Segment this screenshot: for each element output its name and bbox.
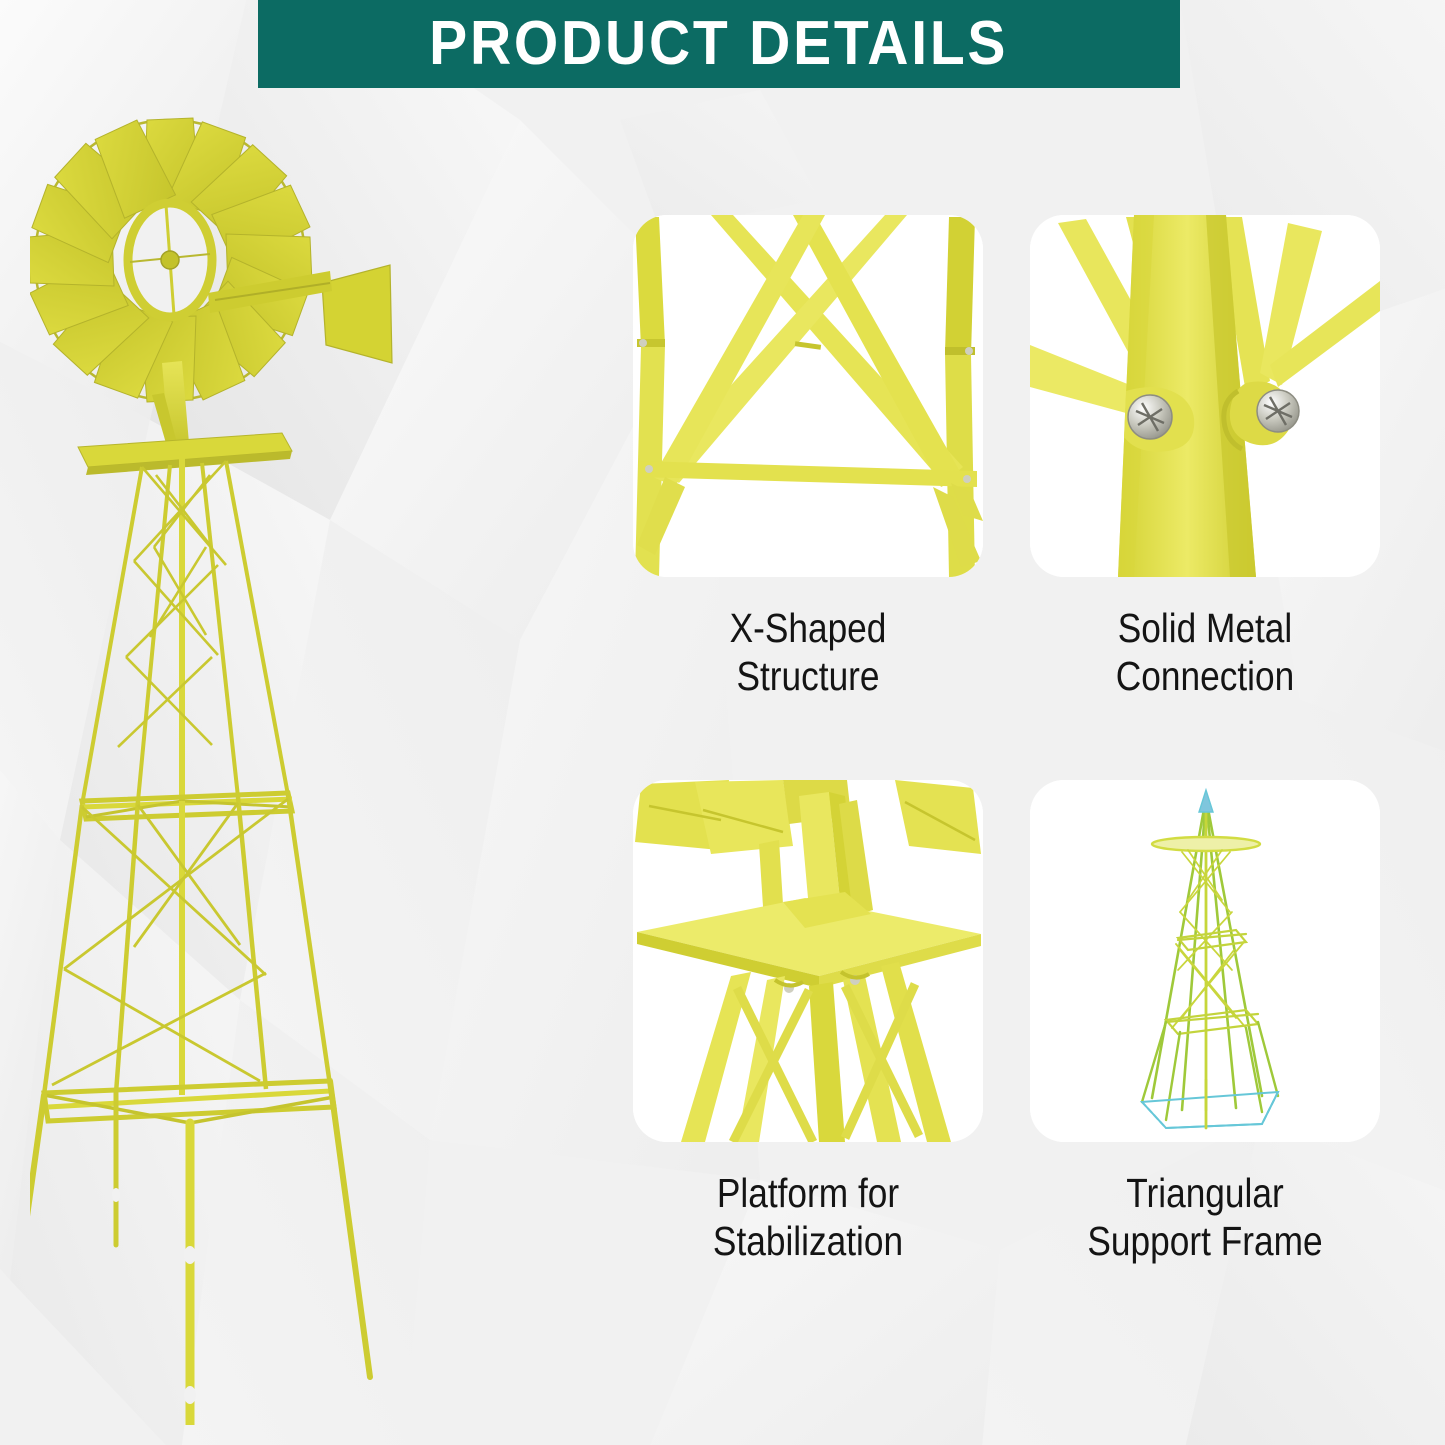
stake-holes <box>112 1188 196 1404</box>
feature-label-platform-for-stabilization: Platform for Stabilization <box>658 1170 959 1266</box>
tower-base-ring <box>44 1081 334 1123</box>
ground-stake-legs <box>30 1081 370 1425</box>
feature-card-x-shaped-structure[interactable] <box>633 215 983 577</box>
tower-wireframe-diagram-image <box>1030 780 1380 1142</box>
tower-lower-section <box>44 795 330 1095</box>
product-windmill-image <box>30 95 610 1425</box>
tower-mid-ring <box>82 793 292 819</box>
feature-label-triangular-support-frame: Triangular Support Frame <box>1055 1170 1356 1266</box>
x-braced-frame-closeup-image <box>633 215 983 577</box>
bolted-joint-closeup-image <box>1030 215 1380 577</box>
feature-card-triangular-support-frame[interactable] <box>1030 780 1380 1142</box>
feature-card-platform-for-stabilization[interactable] <box>633 780 983 1142</box>
page-header-banner: PRODUCT DETAILS <box>258 0 1180 88</box>
platform-closeup-image <box>633 780 983 1142</box>
page-title: PRODUCT DETAILS <box>429 13 1008 75</box>
feature-label-x-shaped-structure: X-Shaped Structure <box>658 605 959 701</box>
feature-label-solid-metal-connection: Solid Metal Connection <box>1055 605 1356 701</box>
windmill-wheel <box>30 117 313 402</box>
hub-bolt <box>161 251 179 269</box>
infographic-canvas: PRODUCT DETAILS <box>0 0 1445 1445</box>
tower-upper-section <box>82 455 288 805</box>
feature-card-solid-metal-connection[interactable] <box>1030 215 1380 577</box>
